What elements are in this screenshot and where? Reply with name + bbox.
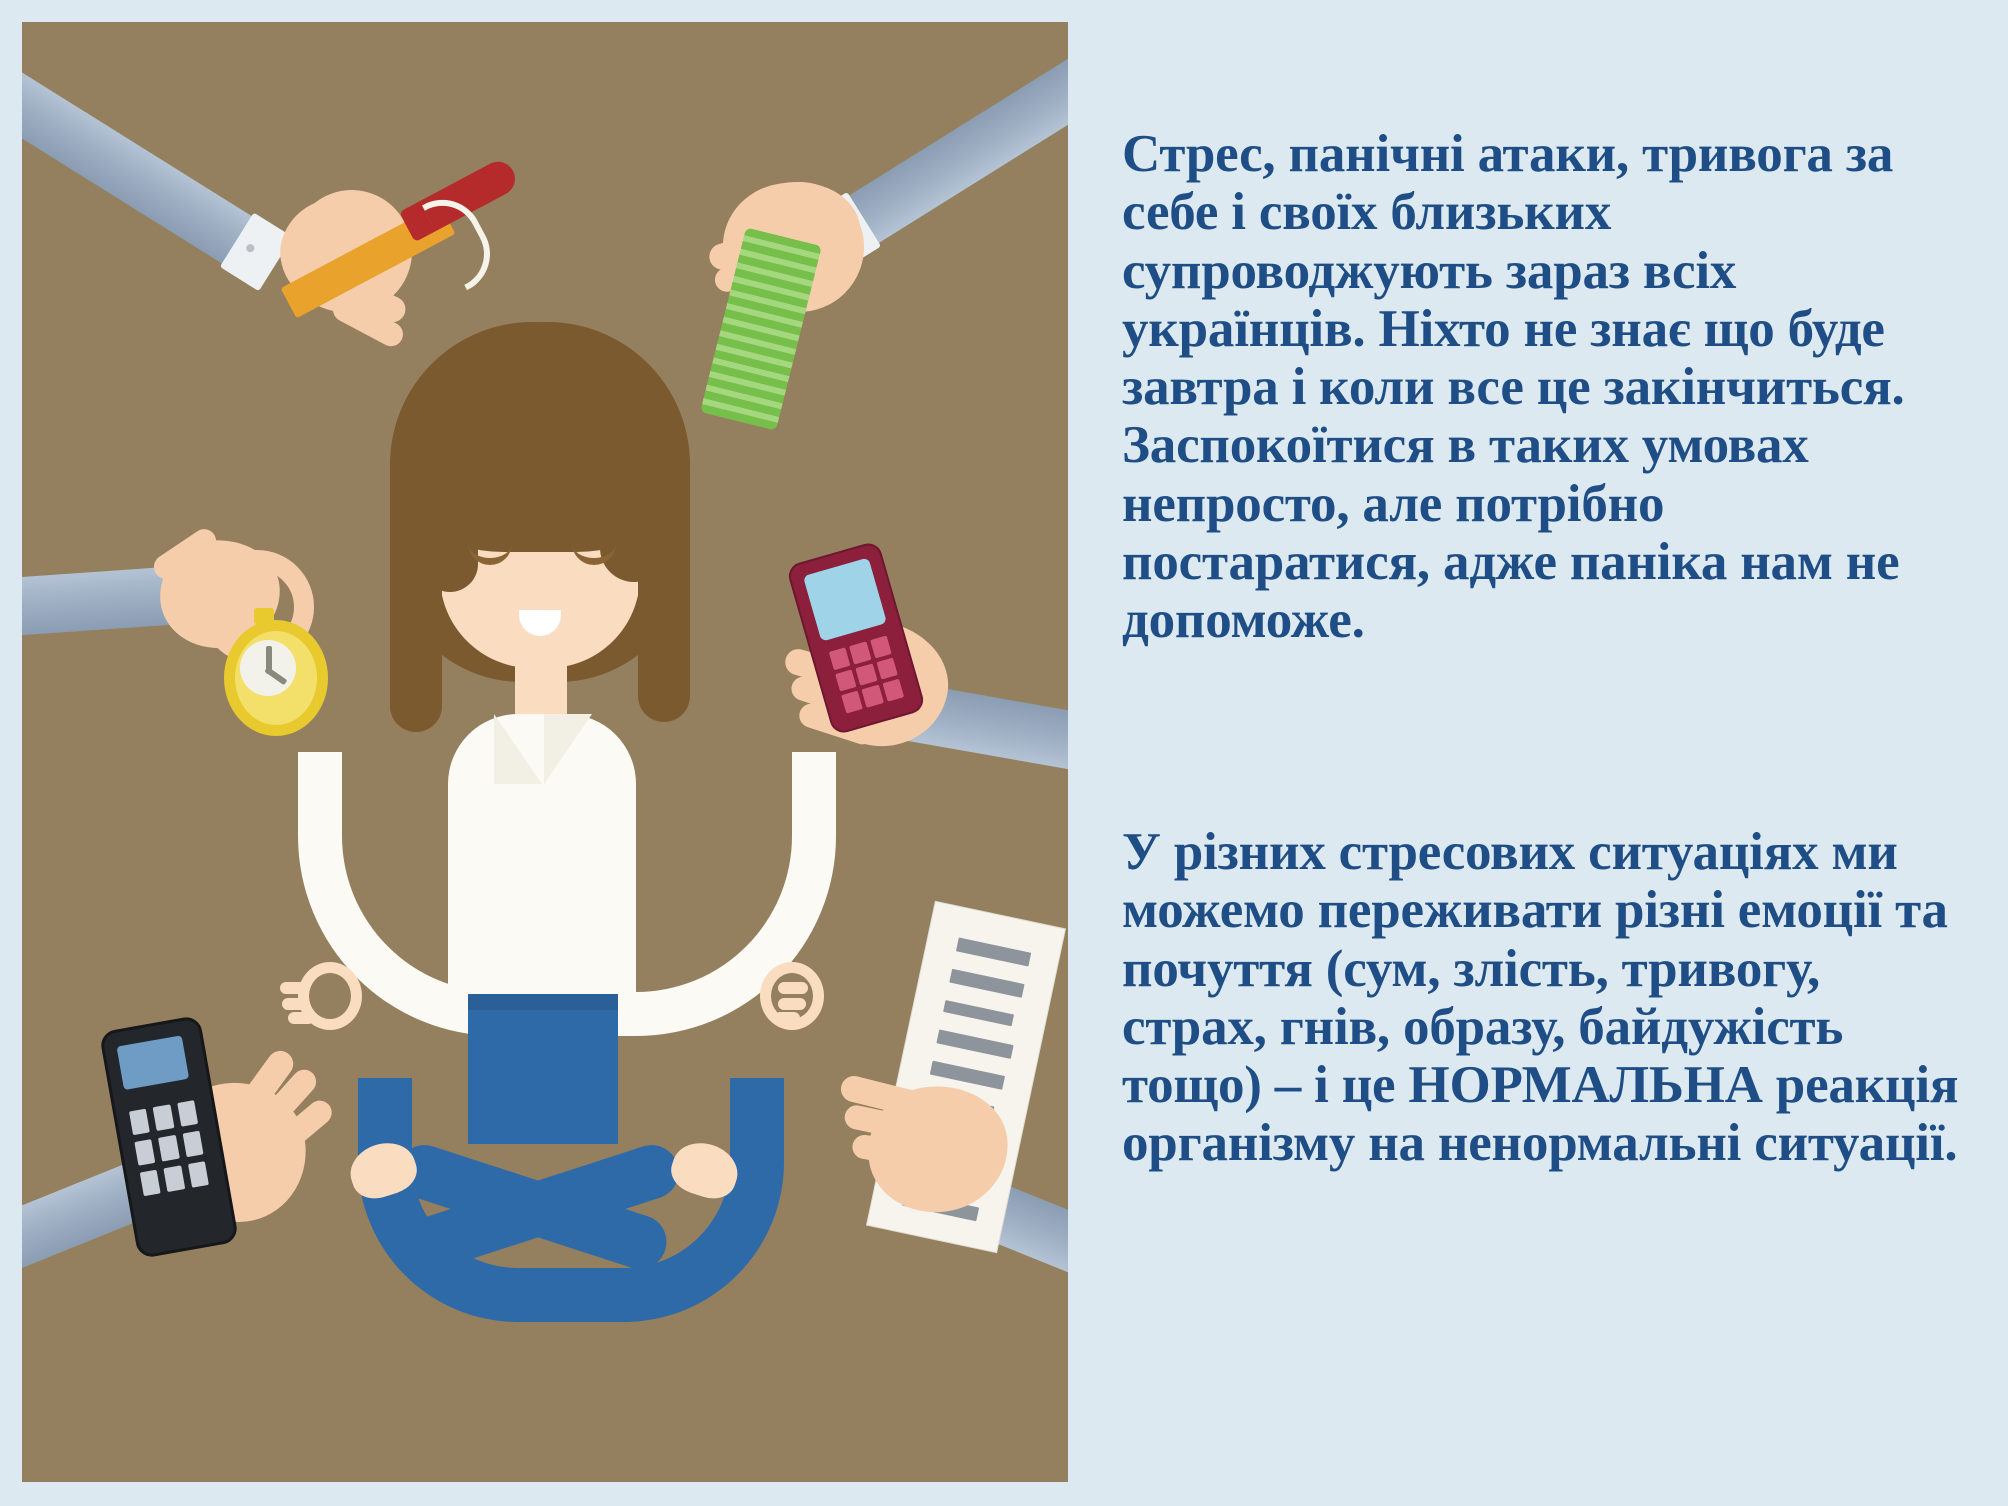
collar-right — [544, 714, 592, 784]
text-panel: Стрес, панічні атаки, тривога за себе і … — [1088, 0, 2008, 1506]
paragraph-stress-intro: Стрес, панічні атаки, тривога за себе і … — [1122, 125, 1964, 650]
mobile-phone-screen — [117, 1035, 190, 1090]
document-text-line — [949, 969, 1024, 998]
mudra-finger — [778, 982, 808, 994]
document-text-line — [936, 1029, 1013, 1058]
document-text-line — [943, 1000, 1014, 1026]
mobile-phone-keypad — [129, 1100, 209, 1196]
mudra-finger — [280, 982, 310, 994]
mudra-finger — [282, 998, 310, 1010]
mudra-finger — [288, 1012, 314, 1024]
document-text-line — [930, 1061, 1005, 1090]
paragraph-emotions-normal-reaction: У різних стресових ситуаціях ми можемо п… — [1122, 823, 1964, 1173]
pocket-watch-crown — [254, 608, 274, 624]
sleeve — [22, 44, 257, 266]
mudra-finger — [774, 1012, 800, 1024]
flip-phone-keypad — [829, 635, 904, 713]
mudra-hand-right — [742, 958, 808, 1030]
hair-bang-left — [422, 472, 478, 592]
meditating-woman — [272, 322, 812, 1342]
sleeve — [844, 34, 1068, 246]
jeans-waistband — [468, 994, 618, 1010]
flip-phone-screen — [803, 557, 887, 641]
mudra-finger — [778, 998, 806, 1010]
illustration-panel — [22, 22, 1068, 1482]
slide-root: Стрес, панічні атаки, тривога за себе і … — [0, 0, 2008, 1506]
document-text-line — [956, 937, 1031, 966]
hair-bang-right — [600, 472, 668, 582]
mudra-hand-left — [280, 958, 346, 1030]
